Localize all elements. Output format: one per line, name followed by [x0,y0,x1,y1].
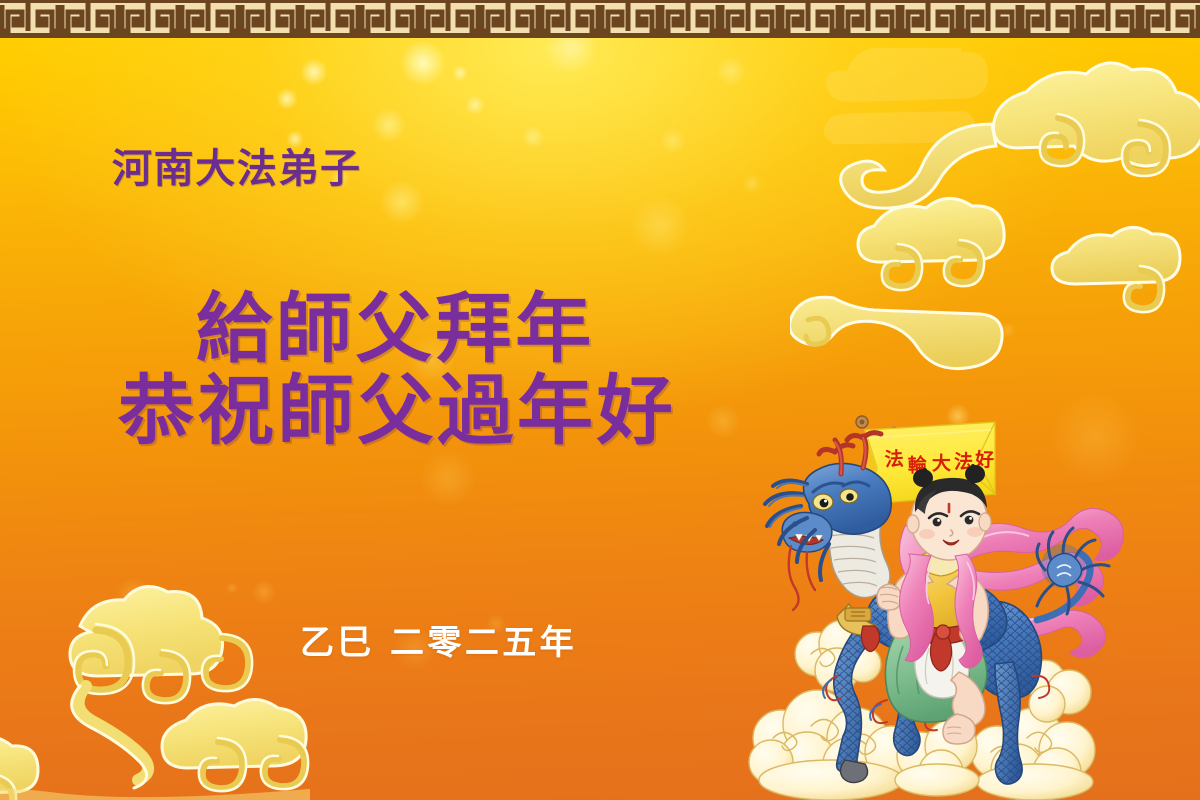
fret-unit [60,3,120,33]
bokeh-light [522,126,544,148]
bokeh-light [660,128,686,154]
bokeh-light [226,582,238,594]
bokeh-light [465,95,485,115]
fret-unit [1020,3,1080,33]
bokeh-light [300,58,328,86]
fret-unit [1080,3,1140,33]
fret-unit [0,3,60,33]
child-riding-qilin-illustration: 法 輪 大 法 好 [745,408,1135,800]
fret-unit [240,3,300,33]
greeting-line-2: 恭祝師父過年好 [118,349,677,459]
fret-unit [540,3,600,33]
group-name-text: 河南大法弟子 [112,136,362,194]
decorative-top-border [0,0,1200,38]
bokeh-light [372,108,406,142]
fret-unit [480,3,540,33]
bokeh-light [742,174,762,194]
fret-unit [600,3,660,33]
fret-unit [1140,3,1200,33]
svg-text:法: 法 [884,447,904,471]
bokeh-light [380,180,424,224]
bokeh-light [116,578,152,614]
fret-unit [780,3,840,33]
auspicious-cloud-top-right [790,48,1200,388]
fret-unit [120,3,180,33]
fret-unit [300,3,360,33]
fret-unit [360,3,420,33]
bokeh-light [630,196,690,256]
auspicious-cloud-bottom-left [0,560,310,800]
fret-unit [900,3,960,33]
bokeh-light [400,40,446,86]
fret-unit [180,3,240,33]
fret-pattern-field [0,3,1200,33]
bokeh-light [452,65,468,81]
svg-text:大: 大 [932,452,951,475]
border-bottom-rule [0,33,1200,38]
bokeh-light [716,56,746,86]
fret-unit [840,3,900,33]
bokeh-light [706,404,740,438]
fret-unit [420,3,480,33]
greeting-card: 河南大法弟子 給師父拜年 恭祝師父過年好 乙巳 二零二五年 [0,0,1200,800]
bokeh-light [252,580,276,604]
bokeh-light [276,88,298,110]
fret-unit [960,3,1020,33]
fret-unit [720,3,780,33]
lunar-date-text: 乙巳 二零二五年 [300,615,577,664]
fret-unit [660,3,720,33]
bokeh-light [1000,322,1016,338]
